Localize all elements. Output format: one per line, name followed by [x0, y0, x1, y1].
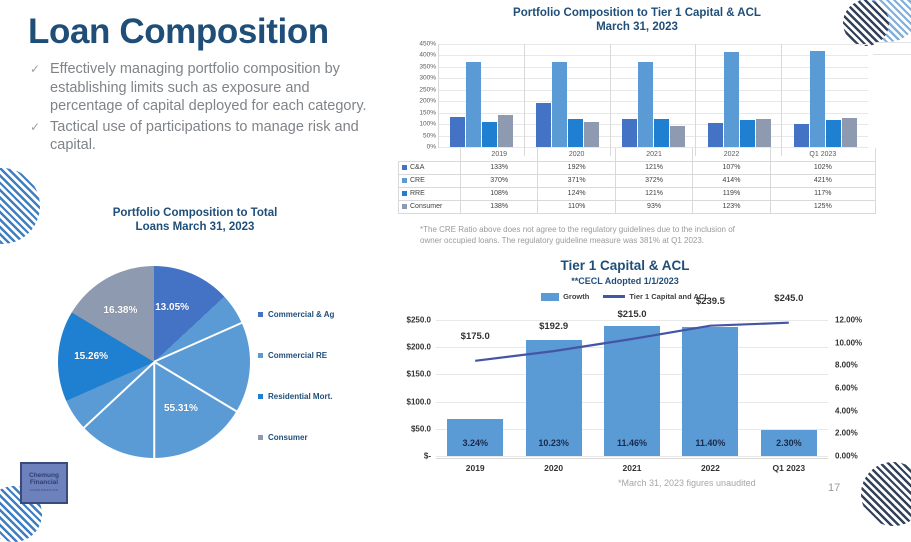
bar-group — [696, 44, 782, 147]
tier1-value-label: $239.5 — [671, 296, 749, 307]
list-item: ✓ Effectively managing portfolio composi… — [30, 60, 380, 116]
table-cell: 192% — [538, 161, 615, 174]
bar-ca — [450, 117, 465, 147]
pie-legend-label: Residential Mort. — [268, 392, 332, 401]
bar-rre — [826, 120, 841, 147]
slide-footnote: *March 31, 2023 figures unaudited — [618, 478, 756, 488]
check-icon: ✓ — [30, 60, 50, 116]
legend-swatch-icon — [402, 178, 407, 183]
pie-legend-item: Commercial & Ag — [258, 294, 334, 335]
x-axis-label: 2020 — [514, 459, 592, 473]
pie-chart-title: Portfolio Composition to Total Loans Mar… — [70, 206, 320, 234]
combo-chart: Tier 1 Capital & ACL **CECL Adopted 1/1/… — [390, 258, 890, 508]
bar-cre — [810, 51, 825, 147]
table-cell: 125% — [770, 200, 875, 213]
bar-chart-title-line1: Portfolio Composition to Tier 1 Capital … — [398, 6, 876, 20]
pie-chart-legend: Commercial & AgCommercial REResidential … — [258, 294, 334, 458]
y-axis-tick: $100.0 — [407, 397, 431, 406]
pie-slice-divider — [153, 362, 155, 458]
y-axis-tick: 450% — [419, 41, 436, 48]
bar-ca — [794, 124, 809, 147]
bar-consumer — [670, 126, 685, 147]
table-cell: 110% — [538, 200, 615, 213]
secondary-y-axis-tick: 10.00% — [835, 338, 862, 347]
table-row: C&A133%192%121%107%102% — [399, 161, 876, 174]
bullet-text: Tactical use of participations to manage… — [50, 118, 380, 155]
table-row: RRE108%124%121%119%117% — [399, 187, 876, 200]
bar-cre — [638, 62, 653, 147]
y-axis-tick: 300% — [419, 75, 436, 82]
decorative-rule — [873, 42, 911, 43]
bar-chart-title: Portfolio Composition to Tier 1 Capital … — [398, 6, 876, 34]
tier1-value-label: $245.0 — [750, 293, 828, 304]
pie-chart-graphic: 13.05%55.31%15.26%16.38% — [58, 266, 250, 458]
x-axis-label: Q1 2023 — [750, 459, 828, 473]
y-axis-tick: 250% — [419, 86, 436, 93]
pie-chart: Portfolio Composition to Total Loans Mar… — [40, 206, 380, 476]
bar-rre — [568, 119, 583, 147]
secondary-y-axis-tick: 0.00% — [835, 452, 858, 461]
y-axis-tick: $200.0 — [407, 343, 431, 352]
secondary-y-axis-tick: 4.00% — [835, 406, 858, 415]
table-cell: 121% — [615, 161, 692, 174]
legend-swatch-icon — [402, 191, 407, 196]
y-axis-tick: $250.0 — [407, 316, 431, 325]
legend-swatch-icon — [258, 435, 263, 440]
bar-rre — [654, 119, 669, 147]
bar-chart-plot-area: 450%400%350%300%250%200%150%100%50%0% — [438, 44, 868, 148]
combo-legend-item: Growth — [541, 292, 589, 301]
bar-group — [525, 44, 611, 147]
x-axis-label: 2019 — [436, 459, 514, 473]
page-title: Loan Composition — [28, 12, 329, 52]
combo-chart-subtitle: **CECL Adopted 1/1/2023 — [390, 276, 860, 286]
pie-legend-label: Commercial & Ag — [268, 310, 334, 319]
pie-legend-item: Consumer — [258, 417, 334, 458]
table-cell: 414% — [693, 174, 770, 187]
bar-rre — [740, 120, 755, 147]
check-icon: ✓ — [30, 118, 50, 155]
secondary-y-axis-tick: 2.00% — [835, 429, 858, 438]
pie-legend-item: Commercial RE — [258, 335, 334, 376]
pie-legend-label: Consumer — [268, 433, 308, 442]
bullet-text: Effectively managing portfolio compositi… — [50, 60, 380, 116]
bar-chart-data-table: 2019202020212022Q1 2023C&A133%192%121%10… — [398, 148, 876, 214]
combo-chart-x-axis: 2019202020212022Q1 2023 — [436, 458, 828, 473]
table-column-header: 2020 — [538, 148, 615, 161]
table-row-label: CRE — [399, 174, 461, 187]
table-cell: 107% — [693, 161, 770, 174]
table-cell: 119% — [693, 187, 770, 200]
bar-chart-series-groups — [439, 44, 868, 147]
secondary-y-axis-tick: 12.00% — [835, 316, 862, 325]
table-cell: 117% — [770, 187, 875, 200]
table-row-label: RRE — [399, 187, 461, 200]
pie-legend-item: Residential Mort. — [258, 376, 334, 417]
table-cell: 372% — [615, 174, 692, 187]
bar-chart: Portfolio Composition to Tier 1 Capital … — [398, 6, 876, 164]
combo-chart-plot-area: $250.0$200.0$150.0$100.0$50.0$-12.00%10.… — [436, 320, 828, 456]
page-number: 17 — [828, 482, 840, 494]
table-cell: 421% — [770, 174, 875, 187]
y-axis-tick: 150% — [419, 109, 436, 116]
combo-chart-title: Tier 1 Capital & ACL — [390, 258, 860, 273]
list-item: ✓ Tactical use of participations to mana… — [30, 118, 380, 155]
bar-group — [439, 44, 525, 147]
bar-consumer — [756, 119, 771, 147]
y-axis-tick: 400% — [419, 52, 436, 59]
y-axis-tick: 350% — [419, 63, 436, 70]
legend-swatch-icon — [258, 353, 263, 358]
gridline — [436, 456, 828, 457]
legend-line-icon — [603, 295, 625, 298]
table-row: Consumer138%110%93%123%125% — [399, 200, 876, 213]
bar-group — [782, 44, 868, 147]
table-column-header: 2022 — [693, 148, 770, 161]
bar-ca — [536, 103, 551, 147]
y-axis-tick: $150.0 — [407, 370, 431, 379]
y-axis-tick: $50.0 — [411, 424, 431, 433]
x-axis-label: 2021 — [593, 459, 671, 473]
bar-ca — [622, 119, 637, 147]
y-axis-tick: 50% — [423, 132, 436, 139]
table-corner-cell — [399, 148, 461, 161]
bar-ca — [708, 123, 723, 147]
logo-text: Chemung Financial CORPORATION — [29, 472, 59, 494]
table-cell: 124% — [538, 187, 615, 200]
legend-swatch-icon — [258, 394, 263, 399]
decorative-circle-left — [0, 168, 40, 244]
table-cell: 102% — [770, 161, 875, 174]
bar-consumer — [498, 115, 513, 147]
table-cell: 133% — [461, 161, 538, 174]
table-footnote: *The CRE Ratio above does not agree to t… — [420, 224, 750, 246]
pie-legend-label: Commercial RE — [268, 351, 327, 360]
table-cell: 138% — [461, 200, 538, 213]
table-cell: 93% — [615, 200, 692, 213]
pie-slice-label: 15.26% — [74, 351, 108, 362]
tier1-capital-line-series — [436, 320, 828, 456]
logo-line1: Chemung — [29, 472, 59, 479]
table-column-header: Q1 2023 — [770, 148, 875, 161]
table-column-header: 2021 — [615, 148, 692, 161]
table-cell: 370% — [461, 174, 538, 187]
logo-line2: Financial — [29, 479, 59, 486]
logo-line3: CORPORATION — [29, 487, 59, 494]
company-logo: Chemung Financial CORPORATION — [20, 462, 68, 504]
y-axis-tick: $- — [424, 452, 431, 461]
legend-swatch-icon — [402, 165, 407, 170]
decorative-rule — [873, 54, 911, 55]
table-column-header: 2019 — [461, 148, 538, 161]
y-axis-tick: 200% — [419, 98, 436, 105]
bar-rre — [482, 122, 497, 147]
x-axis-label: 2022 — [671, 459, 749, 473]
bullet-list: ✓ Effectively managing portfolio composi… — [30, 60, 380, 157]
table-cell: 371% — [538, 174, 615, 187]
bar-cre — [552, 62, 567, 147]
table-cell: 123% — [693, 200, 770, 213]
table-row-label: Consumer — [399, 200, 461, 213]
table-row-label: C&A — [399, 161, 461, 174]
y-axis-tick: 100% — [419, 121, 436, 128]
table-row: CRE370%371%372%414%421% — [399, 174, 876, 187]
secondary-y-axis-tick: 8.00% — [835, 361, 858, 370]
bar-group — [611, 44, 697, 147]
legend-swatch-icon — [541, 293, 559, 301]
bar-chart-subtitle: March 31, 2023 — [398, 20, 876, 34]
table-cell: 121% — [615, 187, 692, 200]
pie-slice-label: 16.38% — [103, 305, 137, 316]
pie-chart-title-line1: Portfolio Composition to Total — [70, 206, 320, 220]
combo-legend-label: Growth — [563, 292, 589, 301]
secondary-y-axis-tick: 6.00% — [835, 384, 858, 393]
bar-cre — [724, 52, 739, 147]
bar-cre — [466, 62, 481, 147]
pie-chart-title-line2: Loans March 31, 2023 — [70, 220, 320, 234]
legend-swatch-icon — [402, 204, 407, 209]
bar-consumer — [842, 118, 857, 147]
table-cell: 108% — [461, 187, 538, 200]
table-header-row: 2019202020212022Q1 2023 — [399, 148, 876, 161]
bar-consumer — [584, 122, 599, 147]
pie-slice-label: 55.31% — [164, 403, 198, 414]
legend-swatch-icon — [258, 312, 263, 317]
pie-slice-label: 13.05% — [155, 302, 189, 313]
tier1-value-label: $215.0 — [593, 309, 671, 320]
